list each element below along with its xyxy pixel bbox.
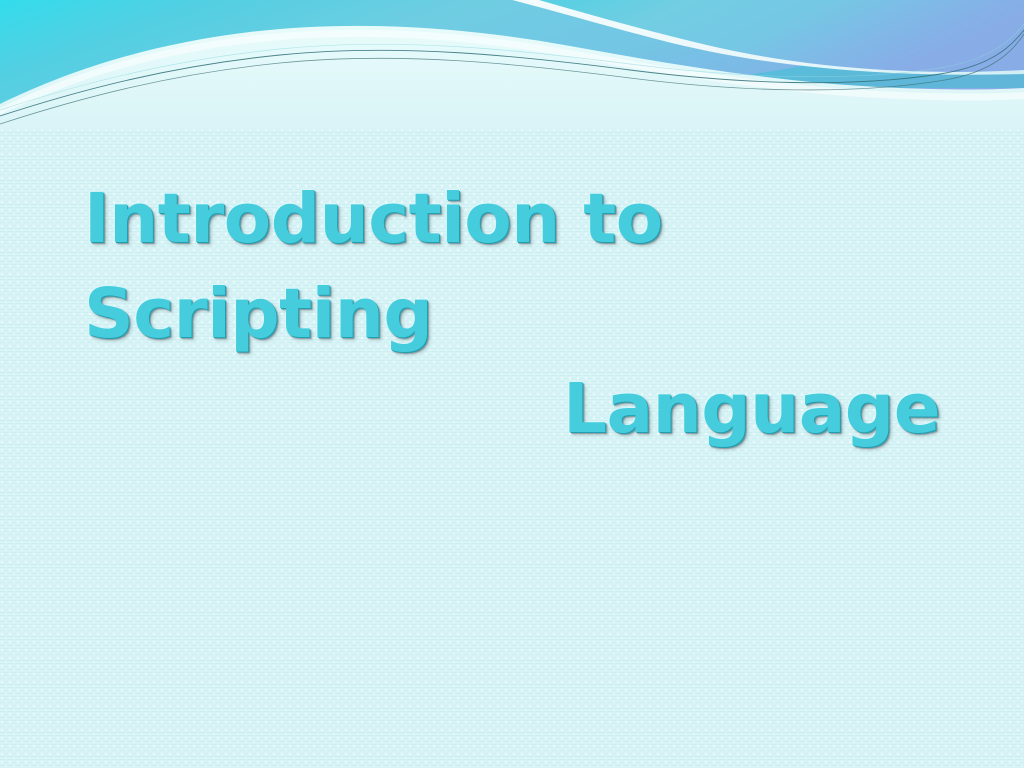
slide-canvas: Introduction to Scripting Language: [0, 0, 1024, 768]
title-line-2: Language: [84, 362, 940, 457]
slide-title: Introduction to Scripting Language: [84, 172, 940, 458]
title-line-1: Introduction to Scripting: [84, 172, 940, 362]
header-wave-decoration: [0, 0, 1024, 130]
